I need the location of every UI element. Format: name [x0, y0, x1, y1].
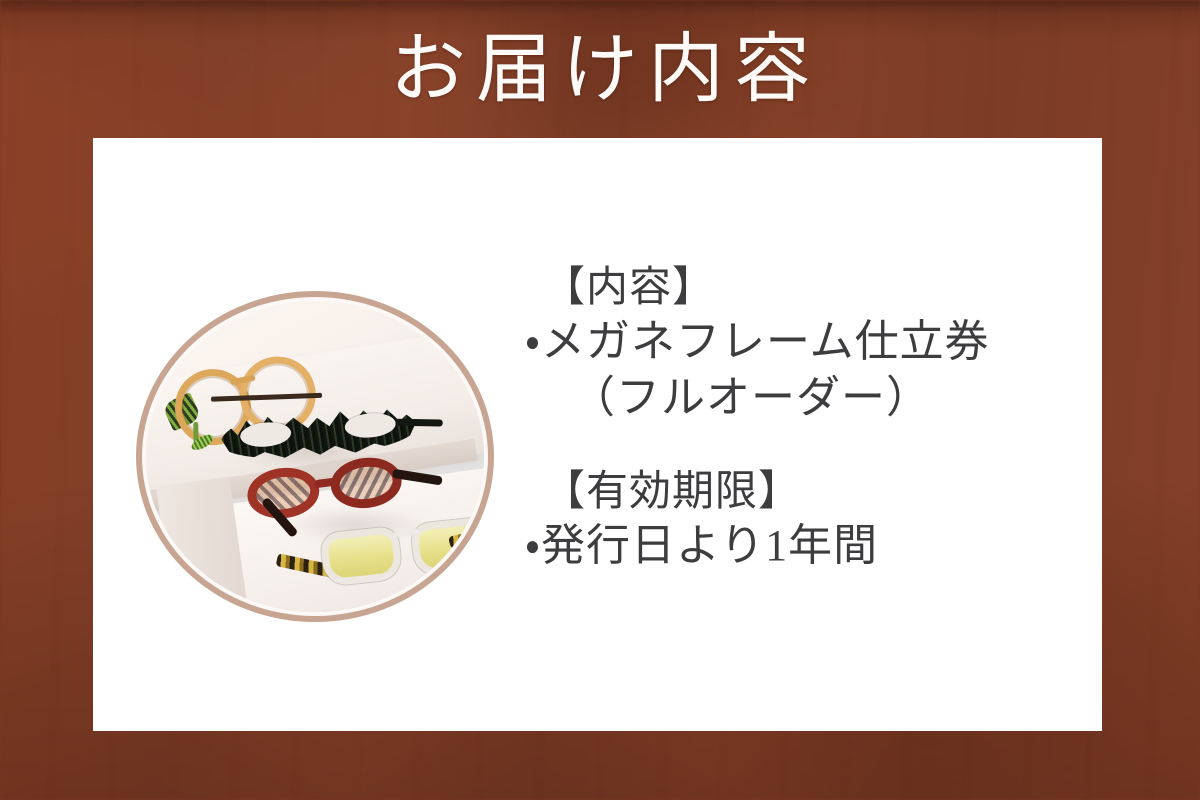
product-photo-circle: [136, 291, 494, 622]
frame-lens-right: [328, 453, 405, 511]
expiry-item: ・発行日より1年間: [525, 518, 1085, 574]
expiry-heading: 【有効期限】: [525, 466, 1085, 518]
photo-scene: [146, 301, 484, 612]
page-root: お届け内容: [0, 0, 1200, 800]
page-title: お届け内容: [0, 22, 1200, 118]
frame-lens-left: [245, 464, 322, 522]
section-spacer: [525, 426, 1085, 466]
frame-temple: [396, 419, 443, 427]
details-text-block: 【内容】 ・メガネフレーム仕立券 （フルオーダー） 【有効期限】 ・発行日より1…: [525, 262, 1085, 574]
content-item: ・メガネフレーム仕立券: [525, 314, 1085, 370]
frame-lens-left: [319, 526, 402, 587]
content-heading: 【内容】: [525, 262, 1085, 314]
product-photo: [146, 301, 484, 612]
content-sub-item: （フルオーダー）: [525, 370, 1085, 426]
frame-lens-right: [410, 516, 484, 577]
